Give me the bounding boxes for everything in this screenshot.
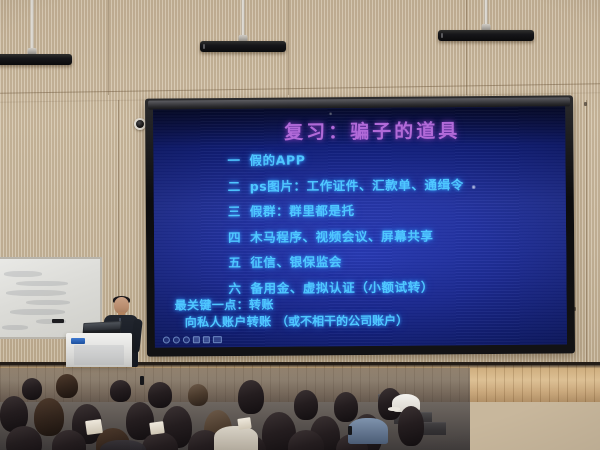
- conclusion-paren: （或不相干的公司账户）: [276, 313, 408, 328]
- handout-paper: [149, 421, 165, 435]
- pen-icon[interactable]: [163, 336, 170, 343]
- audience-shoulders: [100, 440, 146, 450]
- bullet-number: 五: [228, 257, 250, 270]
- wall-panel-seam: [288, 0, 289, 95]
- whiteboard-marker: [52, 319, 64, 323]
- audience-head: [110, 380, 131, 402]
- list-item: 六备用金、虚拟认证（小额试转）: [228, 280, 558, 295]
- audience-shoulders: [214, 426, 258, 450]
- podium-control-panel: [71, 338, 85, 344]
- slide-screen: 复习：骗子的道具 一假的APP 二ps图片：工作证件、汇款单、通缉令 三假群：群…: [153, 106, 567, 347]
- slide-bullet-list: 一假的APP 二ps图片：工作证件、汇款单、通缉令 三假群：群里都是托 四木马程…: [227, 152, 558, 308]
- list-item: 三假群：群里都是托: [228, 203, 558, 218]
- list-item: 一假的APP: [227, 152, 557, 167]
- highlighter-icon[interactable]: [173, 336, 180, 343]
- bullet-text: 备用金、虚拟认证（小额试转）: [250, 279, 434, 295]
- audience-head: [34, 398, 64, 436]
- conclusion-line-2: 向私人账户转账 （或不相干的公司账户）: [175, 312, 545, 329]
- audience-head: [22, 378, 42, 400]
- audience-head: [334, 392, 358, 422]
- wall-fixture: [584, 102, 587, 106]
- slide-thumbnails-icon[interactable]: [193, 336, 200, 343]
- ceiling-speaker: [438, 0, 534, 48]
- list-item: 五征信、银保监会: [228, 254, 558, 269]
- bullet-number: 二: [228, 180, 250, 193]
- audience-head: [294, 390, 318, 420]
- zoom-icon[interactable]: [203, 336, 210, 343]
- bullet-text: 木马程序、视频会议、屏幕共享: [250, 228, 434, 244]
- ceiling-speaker: [200, 0, 286, 58]
- conclusion-line-1: 最关键一点：转账: [175, 297, 545, 314]
- handout-paper: [85, 419, 103, 435]
- audience-head: [188, 384, 208, 406]
- audience-head: [238, 380, 264, 414]
- bullet-number: 一: [227, 155, 249, 168]
- audience: [0, 368, 600, 450]
- bullet-text: 征信、银保监会: [250, 254, 342, 270]
- bullet-text: 假群：群里都是托: [250, 203, 355, 219]
- audience-head: [56, 374, 78, 398]
- laser-pointer-icon[interactable]: [183, 336, 190, 343]
- list-item: 二ps图片：工作证件、汇款单、通缉令: [228, 178, 558, 193]
- lecture-hall-photo: 复习：骗子的道具 一假的APP 二ps图片：工作证件、汇款单、通缉令 三假群：群…: [0, 0, 600, 450]
- more-options-icon[interactable]: [213, 336, 222, 343]
- phone-icon: [140, 376, 144, 385]
- wall-panel-seam: [108, 0, 109, 95]
- bullet-number: 六: [228, 282, 250, 295]
- list-item: 四木马程序、视频会议、屏幕共享: [228, 229, 558, 244]
- wall-panel-seam: [586, 100, 587, 362]
- bullet-number: 四: [228, 231, 250, 244]
- audience-head: [148, 382, 172, 408]
- audience-head: [398, 406, 424, 446]
- slide-title: 复习：骗子的道具: [153, 115, 565, 145]
- conclusion-main: 向私人账户转账: [185, 314, 272, 329]
- bullet-number: 三: [228, 206, 250, 219]
- bullet-text: ps图片：工作证件、汇款单、通缉令: [250, 177, 464, 194]
- presentation-slide: 复习：骗子的道具 一假的APP 二ps图片：工作证件、汇款单、通缉令 三假群：群…: [153, 106, 567, 347]
- projection-display: 复习：骗子的道具 一假的APP 二ps图片：工作证件、汇款单、通缉令 三假群：群…: [145, 95, 575, 356]
- slide-conclusion: 最关键一点：转账 向私人账户转账 （或不相干的公司账户）: [175, 297, 545, 330]
- phone-icon: [348, 426, 352, 435]
- slideshow-toolbar[interactable]: [163, 336, 222, 343]
- ceiling-speaker: [0, 0, 72, 62]
- handout-paper: [237, 417, 251, 430]
- bullet-text: 假的APP: [249, 152, 305, 167]
- audience-shoulders: [348, 418, 388, 444]
